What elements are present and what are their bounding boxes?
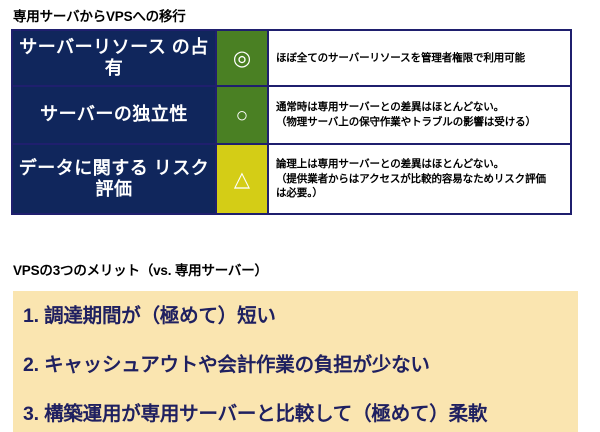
- row-desc-line3: は必要。）: [276, 186, 546, 201]
- table-row: サーバーリソース の占有 ◎ ほぼ全てのサーバーリソースを管理者権限で利用可能: [13, 31, 570, 87]
- merit-item-2: 2. キャッシュアウトや会計作業の負担が少ない: [23, 348, 430, 377]
- row-description-cell: 通常時は専用サーバーとの差異はほとんどない。 （物理サーバ上の保守作業やトラブル…: [269, 87, 570, 143]
- table-row: データに関する リスク評価 △ 論理上は専用サーバーとの差異はほとんどない。 （…: [13, 145, 570, 213]
- section-two-title: VPSの3つのメリット（vs. 専用サーバー）: [13, 259, 268, 279]
- row-desc-line1: 通常時は専用サーバーとの差異はほとんどない。: [276, 100, 536, 115]
- row-rating-cell: ◎: [217, 31, 269, 85]
- row-label-cell: サーバーの独立性: [13, 87, 217, 143]
- row-label-line1: データに関する: [19, 158, 149, 178]
- row-desc-line2: （物理サーバ上の保守作業やトラブルの影響は受ける）: [276, 115, 536, 130]
- row-desc-line1: 論理上は専用サーバーとの差異はほとんどない。: [276, 157, 546, 172]
- comparison-table: サーバーリソース の占有 ◎ ほぼ全てのサーバーリソースを管理者権限で利用可能 …: [11, 29, 572, 215]
- row-rating-cell: △: [217, 145, 269, 213]
- merit-item-3: 3. 構築運用が専用サーバーと比較して（極めて）柔軟: [23, 397, 487, 426]
- row-desc-line1: ほぼ全てのサーバーリソースを管理者権限で利用可能: [276, 51, 525, 66]
- triangle-mark: △: [234, 169, 250, 190]
- row-description-cell: 論理上は専用サーバーとの差異はほとんどない。 （提供業者からはアクセスが比較的容…: [269, 145, 570, 213]
- merits-box: 1. 調達期間が（極めて）短い 2. キャッシュアウトや会計作業の負担が少ない …: [13, 291, 578, 432]
- row-label-cell: サーバーリソース の占有: [13, 31, 217, 85]
- row-label-line1: サーバーリソース: [19, 37, 166, 57]
- row-rating-cell: ○: [217, 87, 269, 143]
- table-row: サーバーの独立性 ○ 通常時は専用サーバーとの差異はほとんどない。 （物理サーバ…: [13, 87, 570, 145]
- double-circle-mark: ◎: [233, 48, 251, 69]
- merit-item-1: 1. 調達期間が（極めて）短い: [23, 299, 276, 328]
- row-desc-line2: （提供業者からはアクセスが比較的容易なためリスク評価: [276, 172, 546, 187]
- row-description-cell: ほぼ全てのサーバーリソースを管理者権限で利用可能: [269, 31, 570, 85]
- row-label-line1: サーバーの独立性: [40, 104, 188, 124]
- section-one-title: 専用サーバからVPSへの移行: [13, 5, 186, 25]
- circle-mark: ○: [236, 105, 249, 126]
- row-label-cell: データに関する リスク評価: [13, 145, 217, 213]
